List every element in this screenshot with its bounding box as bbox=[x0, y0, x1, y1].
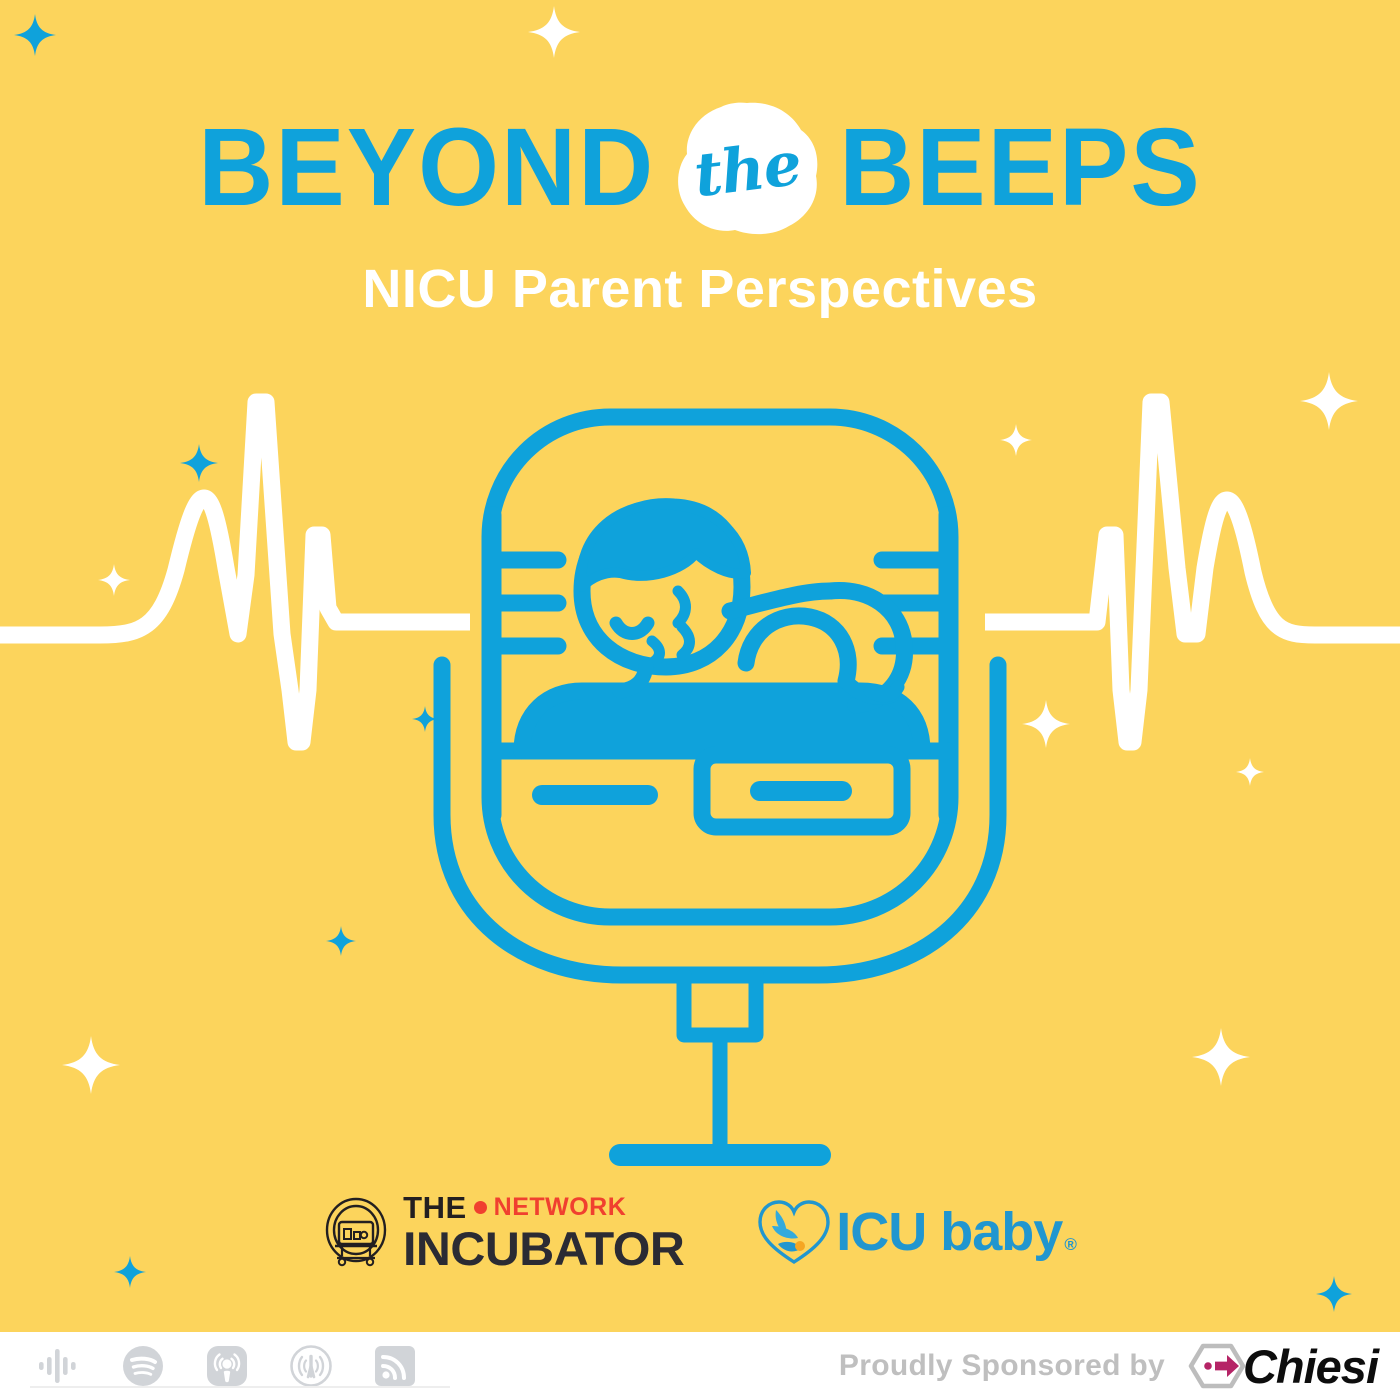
the-badge: the bbox=[673, 100, 821, 236]
sparkle-bottom-right-low bbox=[1316, 1276, 1352, 1312]
footer-bar: Proudly Sponsored by Chiesi bbox=[0, 1332, 1400, 1400]
incubator-the-label: THE bbox=[403, 1192, 467, 1223]
sparkle-left-ekg bbox=[180, 444, 218, 482]
sparkle-mic-left-low bbox=[326, 926, 356, 956]
incubator-red-dot-icon bbox=[474, 1201, 487, 1214]
google-podcasts-icon[interactable] bbox=[36, 1343, 82, 1389]
sparkle-right-small bbox=[1236, 758, 1264, 786]
baby-label: baby bbox=[940, 1201, 1062, 1263]
sponsor-area: Proudly Sponsored by Chiesi bbox=[839, 1339, 1378, 1394]
subtitle: NICU Parent Perspectives bbox=[0, 258, 1400, 320]
title-word-beyond: BEYOND bbox=[198, 113, 655, 223]
incubator-circle-icon bbox=[323, 1196, 389, 1268]
heart-with-mother-and-baby-icon bbox=[756, 1196, 832, 1268]
incubator-main-label: INCUBATOR bbox=[403, 1225, 684, 1272]
sparkle-right-ekg bbox=[1022, 700, 1070, 748]
sparkle-upper-right bbox=[1300, 372, 1358, 430]
podcast-cover-art: BEYOND the BEEPS NICU Parent Perspective… bbox=[0, 0, 1400, 1400]
chiesi-logo[interactable]: Chiesi bbox=[1187, 1339, 1378, 1394]
platform-icon-row bbox=[36, 1343, 418, 1389]
icu-baby-logo[interactable]: ICU baby ® bbox=[756, 1196, 1077, 1268]
chiesi-hexagon-arrow-icon bbox=[1187, 1343, 1245, 1389]
incubator-network-label: NETWORK bbox=[494, 1195, 627, 1220]
sparkle-top-center bbox=[528, 6, 580, 58]
the-incubator-network-logo[interactable]: THE NETWORK INCUBATOR bbox=[323, 1192, 676, 1272]
title-word-beeps: BEEPS bbox=[839, 113, 1202, 223]
overcast-icon[interactable] bbox=[288, 1343, 334, 1389]
sparkle-mic-left-upper bbox=[1000, 424, 1032, 456]
apple-podcasts-icon[interactable] bbox=[204, 1343, 250, 1389]
chiesi-wordmark: Chiesi bbox=[1243, 1339, 1378, 1394]
sponsor-label: Proudly Sponsored by bbox=[839, 1349, 1165, 1383]
registered-trademark-mark: ® bbox=[1064, 1235, 1077, 1255]
title-row: BEYOND the BEEPS bbox=[0, 104, 1400, 232]
sparkle-bottom-left bbox=[62, 1036, 120, 1094]
rss-feed-icon[interactable] bbox=[372, 1343, 418, 1389]
icu-label: ICU bbox=[836, 1201, 926, 1263]
heartbeat-line-left bbox=[0, 390, 470, 770]
spotify-icon[interactable] bbox=[120, 1343, 166, 1389]
microphone-incubator-icon bbox=[430, 395, 1010, 1185]
platform-row-divider bbox=[30, 1386, 450, 1388]
the-badge-word: the bbox=[690, 129, 804, 211]
sparkle-mic-left-mid bbox=[412, 706, 438, 732]
partner-logo-row: THE NETWORK INCUBATOR ICU bab bbox=[0, 1192, 1400, 1272]
sparkle-left-small bbox=[98, 564, 130, 596]
sparkle-top-left bbox=[14, 14, 56, 56]
sparkle-bottom-right bbox=[1192, 1028, 1250, 1086]
title-block: BEYOND the BEEPS NICU Parent Perspective… bbox=[0, 104, 1400, 320]
